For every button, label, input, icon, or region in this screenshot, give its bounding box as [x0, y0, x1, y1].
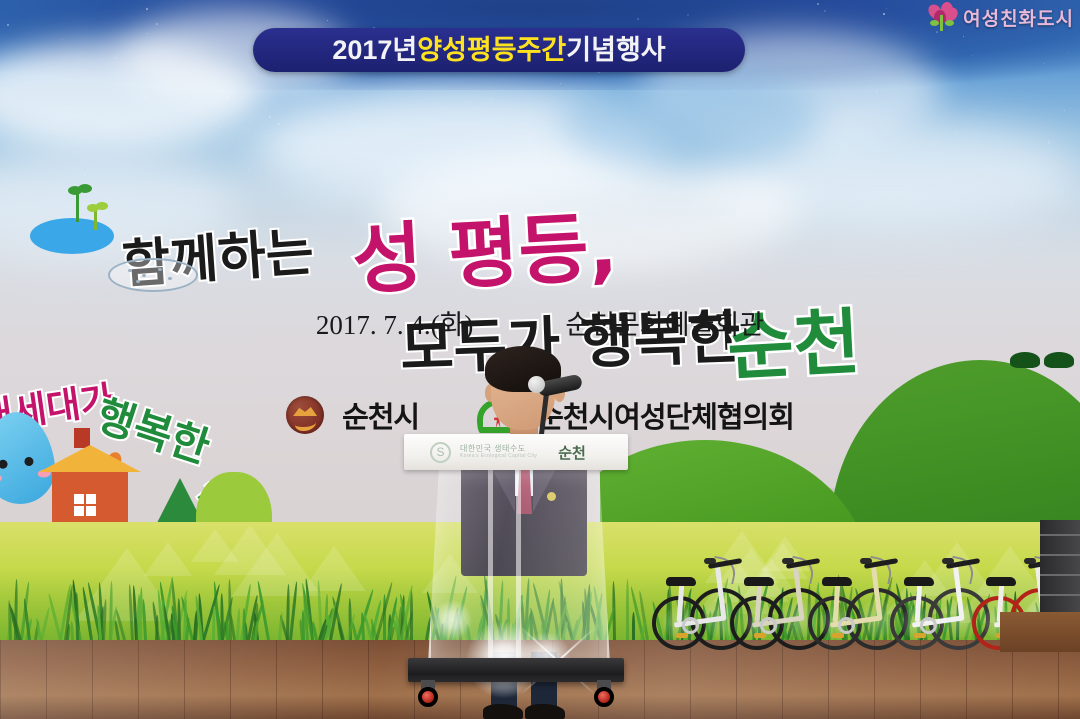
bicycle-seat — [666, 577, 696, 586]
bicycle-crank — [920, 617, 937, 634]
bicycle-crank — [760, 617, 777, 634]
bicycle-crank — [838, 617, 855, 634]
bicycle-grip — [704, 558, 716, 564]
wooden-box — [1000, 612, 1080, 652]
bicycle-pedal — [832, 633, 844, 638]
women-friendly-city-label: 여성친화도시 — [963, 4, 1074, 31]
bicycle-seat — [904, 577, 934, 586]
microphone-icon — [528, 376, 545, 393]
bicycle-pedal — [914, 633, 926, 638]
podium-logo-icon: S — [430, 442, 451, 463]
light-flare — [432, 600, 472, 640]
bicycle-grip — [1024, 558, 1036, 564]
sprout-icon — [76, 192, 79, 222]
flower-person-icon — [927, 2, 957, 32]
bicycle-seat — [822, 577, 852, 586]
podium-lectern: S 대한민국 생태수도 Korea's Ecological Capital C… — [404, 434, 628, 710]
banner-title-pill: 2017년 양성평등주간 기념행사 — [253, 28, 745, 72]
event-date: 2017. 7. 4.(화) — [316, 303, 474, 342]
podium-tagline-en: Korea's Ecological Capital City — [460, 454, 537, 460]
banner-title-part-1: 2017년 — [332, 37, 417, 64]
sponsor-name-city: 순천시 — [342, 394, 419, 436]
hilltop-trees-icon — [1010, 352, 1080, 374]
bicycle-grip — [782, 558, 794, 564]
podium-caster-wheel — [594, 680, 614, 706]
sprout-icon — [96, 202, 108, 210]
slogan-line1-pink: 성 평등, — [349, 185, 619, 309]
banner-title-part-3: 기념행사 — [566, 37, 665, 64]
bicycle-pedal — [676, 633, 688, 638]
outline-cloud-decoration — [108, 258, 198, 292]
bicycle-pedal — [754, 633, 766, 638]
bicycle-grip — [860, 558, 872, 564]
banner-title-part-2: 양성평등주간 — [417, 37, 566, 64]
bicycle-seat — [744, 577, 774, 586]
cloud-island-decoration — [30, 218, 114, 254]
screenshot-root: 여성친화도시 2017년 양성평등주간 기념행사 함께하는 성 평등, 모두가 … — [0, 0, 1080, 719]
podium-caster-wheel — [418, 680, 438, 706]
bicycle-grip — [942, 558, 954, 564]
podium-banner: S 대한민국 생태수도 Korea's Ecological Capital C… — [404, 434, 628, 470]
podium-base — [408, 658, 624, 682]
women-friendly-city-badge: 여성친화도시 — [927, 2, 1074, 32]
sprout-icon — [78, 184, 92, 193]
podium-brand-label: 순천 — [558, 442, 586, 463]
bicycle-seat — [986, 577, 1016, 586]
bicycle-crank — [682, 617, 699, 634]
